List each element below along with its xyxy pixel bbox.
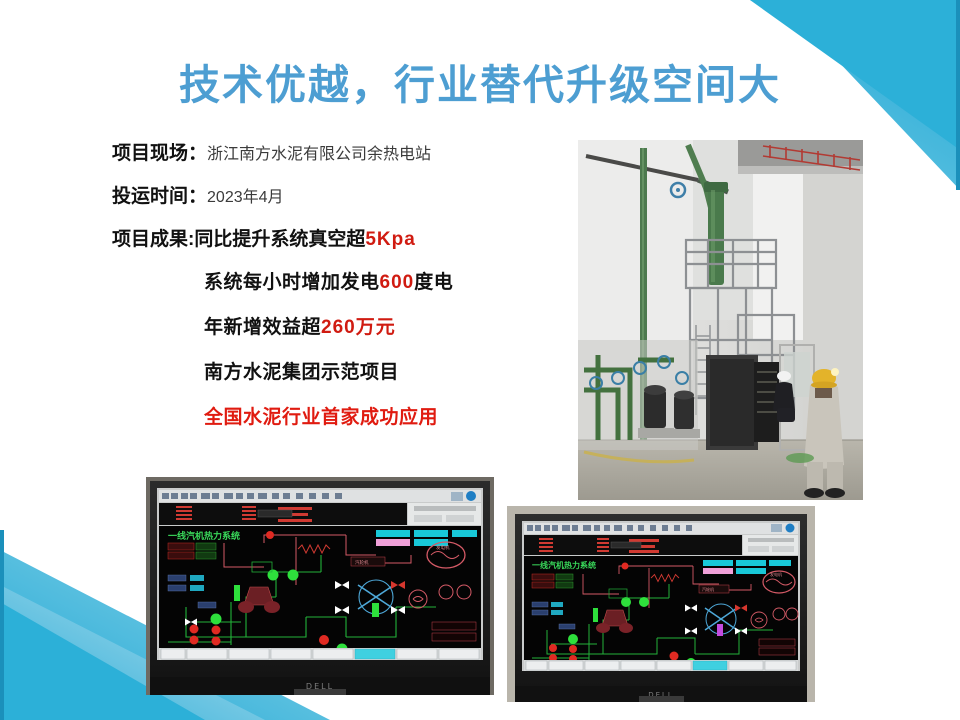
bullet-first-application: 全国水泥行业首家成功应用 — [204, 402, 582, 429]
page-title: 技术优越，行业替代升级空间大 — [0, 62, 960, 109]
content-text-block: 项目现场：浙江南方水泥有限公司余热电站 投运时间：2023年4月 项目成果:同比… — [112, 138, 582, 447]
bullet-annual-benefit: 年新增效益超260万元 — [204, 312, 582, 339]
fact-value-site: 浙江南方水泥有限公司余热电站 — [207, 146, 431, 163]
fact-row-site: 项目现场：浙江南方水泥有限公司余热电站 — [112, 138, 582, 165]
fact-label-result: 项目成果: — [112, 229, 194, 250]
bullet-power-text: 系统每小时增加发电 — [204, 272, 380, 293]
plant-interior-illustration — [578, 140, 863, 500]
fact-value-date: 2023年4月 — [207, 189, 284, 206]
svg-text:一线汽机热力系统: 一线汽机热力系统 — [532, 560, 596, 570]
fact-row-date: 投运时间：2023年4月 — [112, 181, 582, 208]
fact-row-result: 项目成果:同比提升系统真空超5Kpa — [112, 224, 582, 251]
svg-text:汽轮机: 汽轮机 — [702, 586, 714, 592]
bullet-benefit-text: 年新增效益超 — [204, 317, 321, 338]
slide-root: 技术优越，行业替代升级空间大 项目现场：浙江南方水泥有限公司余热电站 投运时间：… — [0, 0, 960, 720]
fact-label-date: 投运时间： — [112, 186, 207, 207]
bullet-benefit-highlight: 260万元 — [321, 317, 396, 338]
photo-monitor-scada-left: 一线汽机热力系统 — [146, 477, 494, 695]
scada-monitor-right-illustration: 一线汽机热力系统 — [507, 506, 815, 702]
svg-text:发电机: 发电机 — [436, 544, 450, 551]
svg-text:一线汽机热力系统: 一线汽机热力系统 — [168, 530, 240, 542]
svg-text:发电机: 发电机 — [770, 571, 782, 577]
fact-label-site: 项目现场： — [112, 143, 207, 164]
scada-monitor-left-illustration: 一线汽机热力系统 — [146, 477, 494, 695]
bullet-demo-project: 南方水泥集团示范项目 — [204, 357, 582, 384]
bullet-power-tail: 度电 — [414, 272, 453, 293]
photo-plant-interior — [578, 140, 863, 500]
svg-text:汽轮机: 汽轮机 — [355, 559, 369, 566]
fact-highlight-vacuum: 5Kpa — [365, 229, 415, 250]
photo-monitor-scada-right: 一线汽机热力系统 — [507, 506, 815, 702]
bullet-power-highlight: 600 — [380, 272, 415, 293]
fact-value-result: 同比提升系统真空超 — [194, 229, 365, 250]
bullet-power-output: 系统每小时增加发电600度电 — [204, 267, 582, 294]
